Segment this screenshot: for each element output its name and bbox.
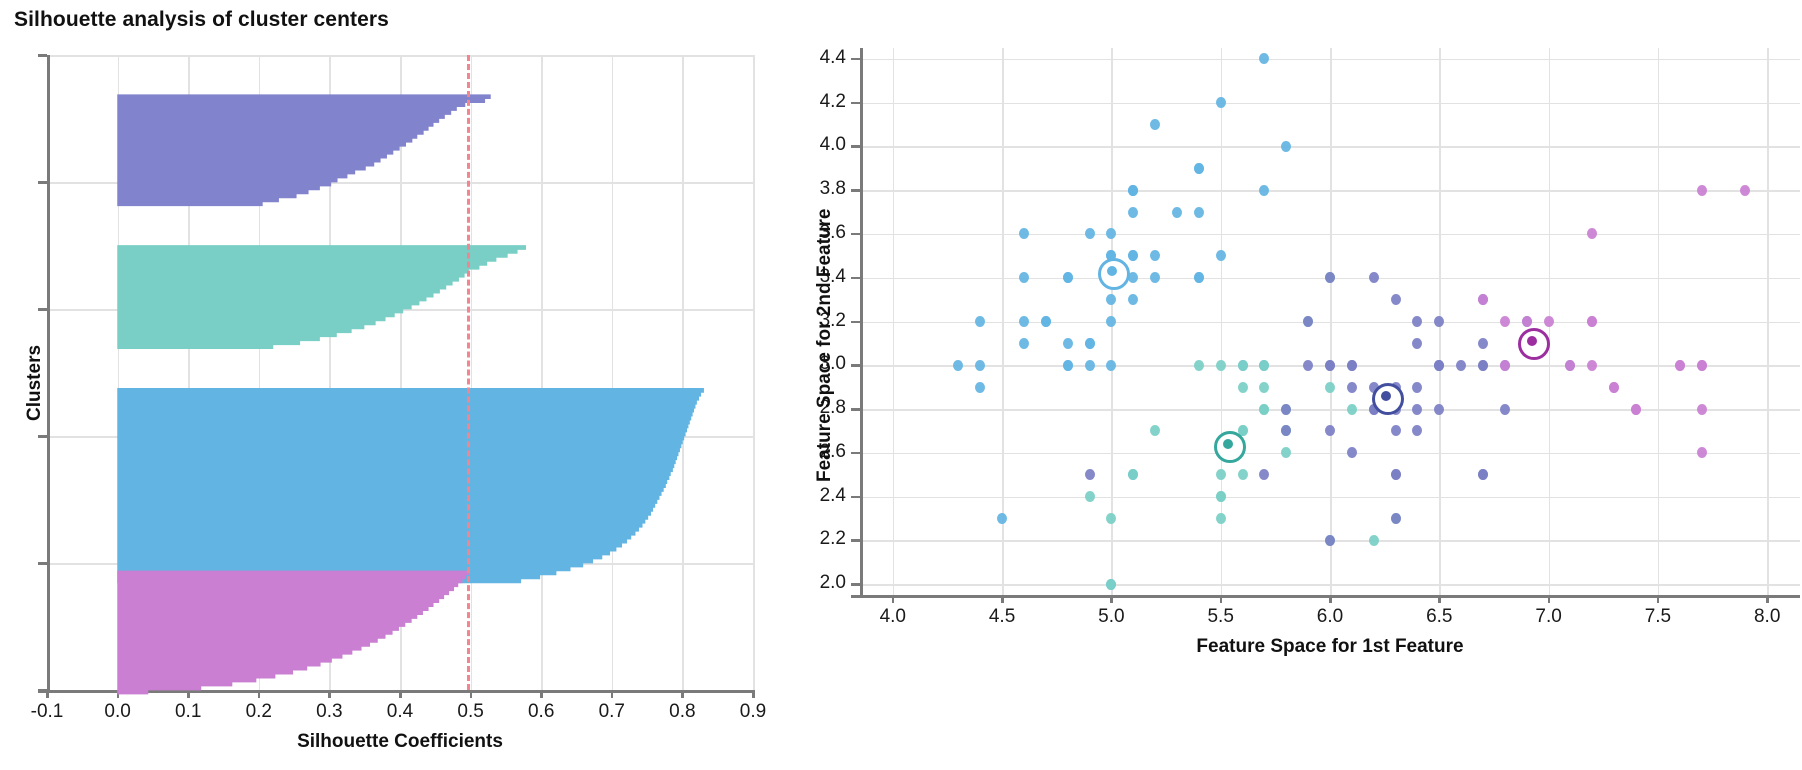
- scatter-point: [1216, 250, 1226, 261]
- y-axis-tick-label: 3.8: [798, 178, 846, 200]
- gridline-horizontal: [860, 453, 1800, 455]
- y-axis-tick: [851, 452, 860, 455]
- x-axis-title: Feature Space for 1st Feature: [1150, 636, 1510, 658]
- gridline-horizontal: [860, 190, 1800, 192]
- scatter-point: [1391, 513, 1401, 524]
- y-axis-tick: [851, 408, 860, 411]
- x-axis-tick: [1220, 595, 1223, 603]
- x-axis-title: Silhouette Coefficients: [270, 731, 530, 753]
- gridline-horizontal: [860, 584, 1800, 586]
- figure-root: Silhouette analysis of cluster centers -…: [0, 0, 1802, 770]
- scatter-point: [1347, 360, 1357, 371]
- scatter-point: [1325, 382, 1335, 393]
- scatter-point: [1041, 316, 1051, 327]
- y-axis-tick-label: 4.4: [798, 47, 846, 69]
- scatter-point: [1259, 404, 1269, 415]
- y-axis-tick: [851, 321, 860, 324]
- y-axis-tick: [851, 364, 860, 367]
- gridline-horizontal: [860, 322, 1800, 324]
- scatter-point: [1697, 185, 1707, 196]
- scatter-point: [1194, 272, 1204, 283]
- scatter-point: [1216, 360, 1226, 371]
- scatter-point: [1128, 185, 1138, 196]
- scatter-point: [1019, 338, 1029, 349]
- y-axis-tick: [851, 233, 860, 236]
- scatter-point: [1325, 535, 1335, 546]
- silhouette-cluster-1: [118, 246, 526, 349]
- scatter-point: [1500, 404, 1510, 415]
- scatter-point: [1697, 404, 1707, 415]
- scatter-point: [1456, 360, 1466, 371]
- scatter-point: [1325, 360, 1335, 371]
- y-axis-title: Feature Space for 2nd Feature: [814, 208, 836, 481]
- gridline-horizontal: [860, 146, 1800, 148]
- scatter-point: [1369, 272, 1379, 283]
- x-axis-tick: [1657, 595, 1660, 603]
- x-axis-tick-label: 6.5: [1415, 606, 1463, 628]
- x-axis-tick: [1548, 595, 1551, 603]
- scatter-point: [1085, 338, 1095, 349]
- y-axis-title: Clusters: [24, 344, 46, 420]
- scatter-point: [1303, 360, 1313, 371]
- scatter-point: [1391, 294, 1401, 305]
- x-axis-tick-label: 7.5: [1634, 606, 1682, 628]
- x-axis-tick-label: 4.0: [869, 606, 917, 628]
- scatter-point: [1544, 316, 1554, 327]
- scatter-point: [1194, 360, 1204, 371]
- y-axis-tick: [851, 58, 860, 61]
- scatter-point: [1391, 425, 1401, 436]
- scatter-point: [1347, 404, 1357, 415]
- scatter-point: [1675, 360, 1685, 371]
- y-axis-tick: [851, 583, 860, 586]
- scatter-point: [1238, 360, 1248, 371]
- scatter-point: [1085, 228, 1095, 239]
- scatter-point: [1128, 207, 1138, 218]
- scatter-point: [1238, 382, 1248, 393]
- silhouette-cluster-2: [118, 388, 704, 582]
- y-axis-line: [860, 48, 863, 597]
- scatter-point: [1369, 535, 1379, 546]
- scatter-point: [1609, 382, 1619, 393]
- scatter-point: [1216, 491, 1226, 502]
- scatter-point: [1631, 404, 1641, 415]
- x-axis-tick: [892, 595, 895, 603]
- gridline-horizontal: [860, 103, 1800, 105]
- scatter-point: [1063, 360, 1073, 371]
- scatter-point: [1085, 491, 1095, 502]
- y-axis-tick-label: 4.0: [798, 134, 846, 156]
- average-silhouette-line: [467, 55, 470, 690]
- x-axis-tick-label: 5.5: [1197, 606, 1245, 628]
- gridline-horizontal: [860, 497, 1800, 499]
- scatter-point: [1194, 163, 1204, 174]
- scatter-point: [1281, 404, 1291, 415]
- scatter-point: [1216, 469, 1226, 480]
- scatter-point: [1697, 360, 1707, 371]
- scatter-point: [1434, 404, 1444, 415]
- silhouette-cluster-0: [118, 95, 491, 206]
- scatter-point: [997, 513, 1007, 524]
- gridline-horizontal: [860, 59, 1800, 61]
- scatter-point: [1500, 316, 1510, 327]
- x-axis-tick-label: 8.0: [1743, 606, 1791, 628]
- scatter-point: [1391, 469, 1401, 480]
- gridline-horizontal: [860, 409, 1800, 411]
- x-axis-tick-label: 5.0: [1087, 606, 1135, 628]
- x-axis-tick-label: 6.0: [1306, 606, 1354, 628]
- scatter-point: [1085, 360, 1095, 371]
- gridline-horizontal: [860, 234, 1800, 236]
- scatter-point: [1412, 404, 1422, 415]
- y-axis-tick: [851, 189, 860, 192]
- scatter-point: [1216, 513, 1226, 524]
- scatter-point: [1063, 272, 1073, 283]
- cluster-center-core: [1381, 391, 1391, 401]
- scatter-point: [1194, 207, 1204, 218]
- y-axis-tick-label: 2.4: [798, 485, 846, 507]
- scatter-point: [975, 382, 985, 393]
- scatter-point: [1478, 338, 1488, 349]
- scatter-point: [1216, 97, 1226, 108]
- scatter-point: [1500, 360, 1510, 371]
- scatter-point: [1019, 316, 1029, 327]
- scatter-point: [1172, 207, 1182, 218]
- scatter-point: [1697, 447, 1707, 458]
- scatter-point: [1347, 382, 1357, 393]
- scatter-point: [1478, 360, 1488, 371]
- scatter-point: [1238, 469, 1248, 480]
- x-axis-tick: [1329, 595, 1332, 603]
- y-axis-tick-label: 4.2: [798, 91, 846, 113]
- scatter-point: [1063, 338, 1073, 349]
- scatter-point: [1085, 469, 1095, 480]
- y-axis-tick: [851, 145, 860, 148]
- y-axis-tick: [851, 496, 860, 499]
- scatter-point: [975, 360, 985, 371]
- silhouette-panel: -0.10.00.10.20.30.40.50.60.70.80.9Silhou…: [0, 0, 800, 770]
- scatter-point: [1522, 316, 1532, 327]
- silhouette-cluster-3: [118, 571, 469, 694]
- x-axis-tick: [1766, 595, 1769, 603]
- y-axis-tick: [851, 277, 860, 280]
- x-axis-tick-label: 7.0: [1525, 606, 1573, 628]
- x-axis-tick: [1001, 595, 1004, 603]
- y-axis-tick-label: 2.0: [798, 572, 846, 594]
- x-axis-tick: [1110, 595, 1113, 603]
- y-axis-tick: [851, 539, 860, 542]
- x-axis-tick-label: 4.5: [978, 606, 1026, 628]
- scatter-panel: 2.02.22.42.62.83.03.23.43.63.84.04.24.44…: [800, 0, 1802, 770]
- silhouette-shapes: [0, 0, 800, 770]
- y-axis-tick: [851, 102, 860, 105]
- x-axis-tick: [1438, 595, 1441, 603]
- y-axis-tick-label: 2.2: [798, 528, 846, 550]
- scatter-point: [1106, 579, 1116, 590]
